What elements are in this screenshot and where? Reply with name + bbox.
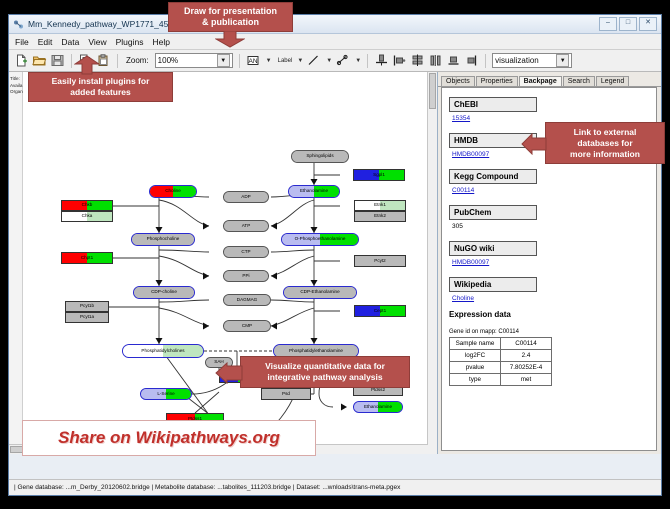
node-label: Sphingolipids	[306, 154, 333, 159]
callout-plugins-line1: Easily install plugins for	[52, 76, 150, 87]
node-label: PPi	[242, 274, 249, 279]
node-label: ADP	[241, 195, 250, 200]
pathway-node-dagmag[interactable]: DAGMAG	[223, 294, 271, 306]
node-label: Etnk2	[374, 214, 386, 219]
node-label: Pcyt2	[374, 259, 386, 264]
toolbar-separator-4	[367, 54, 368, 68]
tab-search[interactable]: Search	[563, 76, 595, 86]
line-dropdown-icon[interactable]: ▼	[326, 58, 332, 64]
pathway-node-etnk2[interactable]: Etnk2	[354, 211, 406, 222]
node-label: Phosphocholine	[147, 237, 180, 242]
open-folder-icon[interactable]	[32, 53, 47, 68]
db-header-pubchem: PubChem	[449, 205, 537, 220]
expression-key: Sample name	[450, 338, 501, 350]
expression-data-heading: Expression data	[449, 310, 656, 319]
menu-item-view[interactable]: View	[88, 37, 106, 47]
tab-backpage[interactable]: Backpage	[519, 76, 562, 86]
expression-key: log2FC	[450, 350, 501, 362]
node-label: Etnk1	[374, 203, 386, 208]
expression-value: C00114	[501, 338, 552, 350]
expression-row: log2FC2.4	[450, 350, 552, 362]
expression-key: pvalue	[450, 362, 501, 374]
pathway-node-phosphatidylcholines[interactable]: Phosphatidylcholines	[122, 344, 204, 358]
expression-row: Sample nameC00114	[450, 338, 552, 350]
expression-value: 2.4	[501, 350, 552, 362]
node-label: CTP	[241, 250, 250, 255]
node-label: DAGMAG	[237, 298, 257, 303]
status-text: | Gene database: ...m_Derby_20120602.bri…	[14, 484, 400, 491]
node-label: CMP	[242, 324, 252, 329]
node-label: O-Phosphoethanolamine	[295, 237, 346, 242]
node-label: Ethanolamine	[364, 405, 392, 410]
align-bottom-icon[interactable]	[446, 53, 461, 68]
status-bar: | Gene database: ...m_Derby_20120602.bri…	[9, 479, 661, 495]
label-tool-label[interactable]: Label	[278, 58, 293, 64]
visualization-combobox[interactable]: visualization ▼	[492, 53, 572, 68]
tab-properties[interactable]: Properties	[476, 76, 518, 86]
minimize-button[interactable]: –	[599, 17, 617, 31]
expression-row: pvalue7.80252E-4	[450, 362, 552, 374]
line-icon[interactable]	[306, 53, 321, 68]
pathway-info-stub: Title: Availa Organ	[9, 72, 23, 454]
pathway-node-adp[interactable]: ADP	[223, 191, 269, 203]
callout-link-line1: Link to external	[574, 127, 637, 138]
stub-organism: Organ	[10, 89, 21, 96]
pathway-node-sgpl1[interactable]: Sgpl1	[353, 169, 405, 181]
datanode-icon[interactable]: AN	[246, 53, 261, 68]
pathway-node-chkb[interactable]: Chkb	[61, 200, 113, 211]
pathway-node-chka[interactable]: Chka	[61, 211, 113, 222]
visualization-value: visualization	[495, 56, 556, 65]
pathway-node-sphingolipids[interactable]: Sphingolipids	[291, 150, 349, 163]
pathway-node-pcyt1b[interactable]: Pcyt1b	[65, 301, 109, 312]
pathway-node-phosphocholine[interactable]: Phosphocholine	[131, 233, 195, 246]
toolbar-separator-3	[239, 54, 240, 68]
title-bar: Mm_Kennedy_pathway_WP1771_45176.gpml – □…	[9, 15, 661, 34]
window-controls: – □ ✕	[599, 17, 657, 31]
node-label: L-Serine	[157, 392, 174, 397]
callout-draw-arrow-icon	[215, 31, 245, 48]
toolbar-separator-2	[117, 54, 118, 68]
expression-table: Sample nameC00114log2FC2.4pvalue7.80252E…	[449, 337, 552, 386]
db-link-kegg-compound[interactable]: C00114	[452, 187, 656, 194]
toolbar-separator	[71, 54, 72, 68]
svg-text:AN: AN	[248, 58, 257, 65]
callout-draw-line1: Draw for presentation	[184, 6, 277, 17]
pathway-node-pcyt2[interactable]: Pcyt2	[354, 255, 406, 267]
pathway-node-cdp-ethanolamine[interactable]: CDP-Ethanolamine	[283, 286, 357, 299]
gene-id-label: Gene id on mapp: C00114	[449, 329, 656, 335]
pathway-node-ethanolamine[interactable]: Ethanolamine	[288, 185, 340, 198]
zoom-value: 100%	[158, 56, 217, 65]
callout-draw-line2: & publication	[202, 17, 259, 28]
datanode-dropdown-icon[interactable]: ▼	[266, 58, 272, 64]
canvas-vertical-scrollbar[interactable]	[427, 72, 437, 454]
anchor-dropdown-icon[interactable]: ▼	[355, 58, 361, 64]
db-link-nugo-wiki[interactable]: HMDB00097	[452, 259, 656, 266]
tab-legend[interactable]: Legend	[596, 76, 629, 86]
callout-plugins: Easily install plugins for added feature…	[28, 72, 173, 102]
menu-item-help[interactable]: Help	[153, 37, 170, 47]
pathway-node-chpt1[interactable]: Chpt1	[61, 252, 113, 264]
toolbar-separator-5	[485, 54, 486, 68]
pathway-node-ethanolamine[interactable]: Ethanolamine	[353, 401, 403, 413]
node-label: Cept1	[374, 309, 386, 314]
node-label: Chka	[82, 214, 93, 219]
zoom-label: Zoom:	[126, 56, 149, 65]
save-icon[interactable]	[50, 53, 65, 68]
node-label: CDP-choline	[151, 290, 177, 295]
align-right-icon[interactable]	[464, 53, 479, 68]
menu-item-file[interactable]: File	[15, 37, 29, 47]
expression-row: typemet	[450, 374, 552, 386]
pathway-node-ppi[interactable]: PPi	[223, 270, 269, 282]
pathway-node-o-phosphoethanolamine[interactable]: O-Phosphoethanolamine	[281, 233, 359, 246]
toolbar: Zoom: 100% ▼ AN ▼ Label ▼ ▼ ▼	[9, 50, 661, 72]
node-label: Psd	[282, 392, 290, 397]
menu-item-plugins[interactable]: Plugins	[116, 37, 144, 47]
node-label: Pcyt1a	[80, 315, 94, 320]
maximize-button[interactable]: □	[619, 17, 637, 31]
pathway-node-atp[interactable]: ATP	[223, 220, 269, 232]
callout-share-text: Share on Wikipathways.org	[58, 428, 280, 448]
callout-visualize-arrow-icon	[215, 362, 243, 384]
menu-bar: File Edit Data View Plugins Help	[9, 34, 661, 50]
scroll-thumb-v[interactable]	[429, 73, 436, 109]
db-link-chebi[interactable]: 15354	[452, 115, 656, 122]
stub-title: Title:	[10, 76, 21, 83]
callout-link: Link to external databases for more info…	[545, 122, 665, 164]
callout-link-line2: databases for	[577, 138, 632, 149]
callout-visualize-line1: Visualize quantitative data for	[265, 361, 385, 372]
tab-objects[interactable]: Objects	[441, 76, 475, 86]
expression-value: 7.80252E-4	[501, 362, 552, 374]
node-label: ATP	[242, 224, 251, 229]
callout-plugins-line2: added features	[70, 87, 130, 98]
db-link-wikipedia[interactable]: Choline	[452, 295, 656, 302]
pathway-node-ctp[interactable]: CTP	[223, 246, 269, 258]
pathway-node-psd[interactable]: Psd	[261, 388, 311, 400]
pathway-node-cmp[interactable]: CMP	[223, 320, 271, 332]
pathway-node-l-serine[interactable]: L-Serine	[140, 388, 192, 400]
callout-visualize: Visualize quantitative data for integrat…	[240, 356, 410, 388]
app-icon	[13, 19, 24, 30]
expression-value: met	[501, 374, 552, 386]
pathway-node-pcyt1a[interactable]: Pcyt1a	[65, 312, 109, 323]
expression-key: type	[450, 374, 501, 386]
align-left-icon[interactable]	[392, 53, 407, 68]
chevron-down-icon[interactable]: ▼	[217, 54, 230, 67]
align-stack-icon[interactable]	[410, 53, 425, 68]
db-header-nugo-wiki: NuGO wiki	[449, 241, 537, 256]
pathway-node-choline[interactable]: Choline	[149, 185, 197, 198]
zoom-combobox[interactable]: 100% ▼	[155, 53, 233, 68]
distribute-icon[interactable]	[428, 53, 443, 68]
callout-link-line3: more information	[570, 149, 640, 160]
node-label: Chpt1	[81, 256, 93, 261]
callout-share: Share on Wikipathways.org	[22, 420, 316, 456]
pathway-canvas[interactable]: SphingolipidsSgpl1CholineEthanolamineChk…	[23, 72, 437, 454]
pathway-node-cept1[interactable]: Cept1	[354, 305, 406, 317]
new-file-icon[interactable]	[14, 53, 29, 68]
db-header-kegg-compound: Kegg Compound	[449, 169, 537, 184]
node-label: Pcyt1b	[80, 304, 94, 309]
close-button[interactable]: ✕	[639, 17, 657, 31]
node-label: Sgpl1	[373, 173, 385, 178]
align-top-icon[interactable]	[374, 53, 389, 68]
node-label: Choline	[165, 189, 181, 194]
node-label: Ethanolamine	[300, 189, 328, 194]
callout-visualize-line2: integrative pathway analysis	[267, 372, 382, 383]
menu-item-data[interactable]: Data	[61, 37, 79, 47]
pathway-node-cdp-choline[interactable]: CDP-choline	[133, 286, 195, 299]
db-header-chebi: ChEBI	[449, 97, 537, 112]
callout-plugins-arrow-icon	[74, 55, 100, 75]
callout-draw: Draw for presentation & publication	[168, 2, 293, 32]
label-dropdown-icon[interactable]: ▼	[297, 58, 303, 64]
db-header-wikipedia: Wikipedia	[449, 277, 537, 292]
node-label: Ptdss2	[371, 388, 385, 393]
pathway-node-etnk1[interactable]: Etnk1	[354, 200, 406, 211]
db-value-pubchem: 305	[452, 223, 656, 230]
side-panel-tabs: Objects Properties Backpage Search Legen…	[438, 72, 661, 87]
callout-link-arrow-icon	[521, 133, 547, 155]
anchor-icon[interactable]	[335, 53, 350, 68]
node-label: CDP-Ethanolamine	[300, 290, 339, 295]
node-label: Phosphatidylethanolamine	[289, 349, 343, 354]
chevron-down-icon-2[interactable]: ▼	[556, 54, 569, 67]
node-label: Chkb	[82, 203, 93, 208]
pathway-editor: Title: Availa Organ	[9, 72, 438, 454]
node-label: Phosphatidylcholines	[141, 349, 184, 354]
menu-item-edit[interactable]: Edit	[38, 37, 53, 47]
